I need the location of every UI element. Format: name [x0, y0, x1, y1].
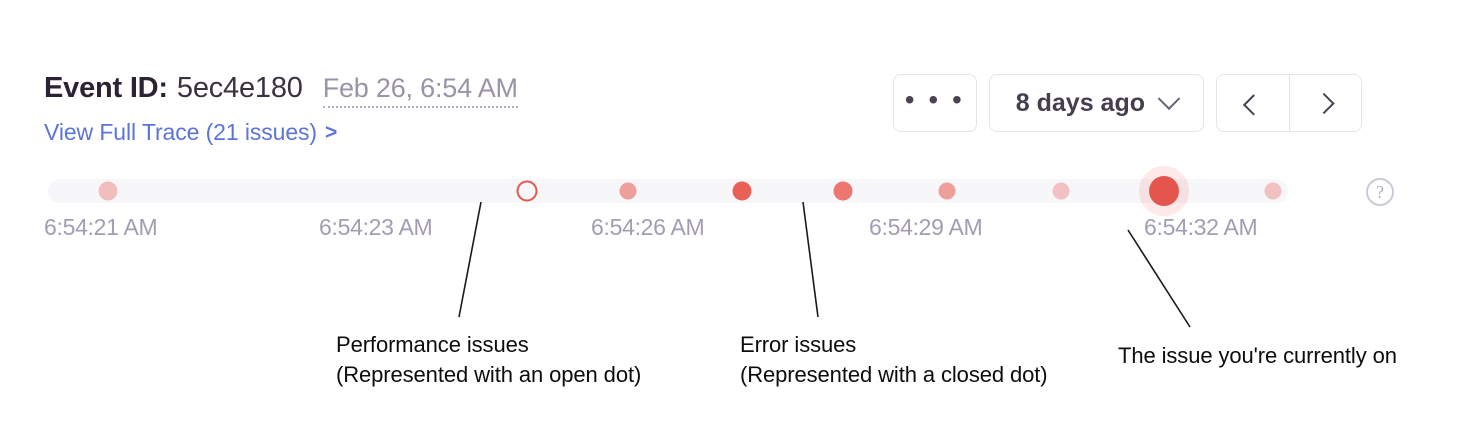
timeline-dot-1[interactable]: [99, 182, 118, 201]
timeline-dot-7[interactable]: [1053, 183, 1070, 200]
annotation-performance-issues-line-1: Performance issues: [336, 330, 641, 360]
time-label-4: 6:54:29 AM: [869, 214, 982, 241]
event-id-value: 5ec4e180: [177, 72, 303, 105]
timeline-dot-3[interactable]: [620, 183, 637, 200]
help-icon[interactable]: ?: [1366, 178, 1394, 206]
time-label-1: 6:54:21 AM: [44, 214, 157, 241]
chevron-left-icon: [1242, 94, 1263, 115]
time-period-label: 8 days ago: [1016, 89, 1145, 118]
header-row: Event ID: 5ec4e180 Feb 26, 6:54 AM View …: [44, 72, 1440, 152]
timeline-time-labels: 6:54:21 AM6:54:23 AM6:54:26 AM6:54:29 AM…: [44, 214, 1436, 242]
view-full-trace-label: View Full Trace (21 issues): [44, 119, 317, 146]
annotation-performance-issues-line-2: (Represented with an open dot): [336, 360, 641, 390]
question-mark-glyph: ?: [1376, 182, 1384, 203]
timeline-track[interactable]: [48, 179, 1288, 203]
chevron-right-icon: >: [325, 121, 337, 145]
timeline-dot-6[interactable]: [939, 183, 956, 200]
time-period-dropdown[interactable]: 8 days ago: [989, 74, 1204, 132]
annotation-error-issues-line-2: (Represented with a closed dot): [740, 360, 1048, 390]
annotation-current-issue: The issue you're currently on: [1118, 341, 1397, 371]
navigation-group: [1216, 74, 1362, 132]
next-event-button[interactable]: [1289, 75, 1361, 131]
chevron-down-icon: [1158, 87, 1181, 110]
event-id-label: Event ID:: [44, 72, 168, 105]
time-label-2: 6:54:23 AM: [319, 214, 432, 241]
timeline-dot-5[interactable]: [834, 182, 853, 201]
annotation-current-issue-line-1: The issue you're currently on: [1118, 341, 1397, 371]
event-id-line: Event ID: 5ec4e180 Feb 26, 6:54 AM: [44, 72, 518, 108]
timeline-dot-8[interactable]: [1149, 176, 1179, 206]
event-date[interactable]: Feb 26, 6:54 AM: [323, 73, 518, 108]
event-trace-timeline-panel: Event ID: 5ec4e180 Feb 26, 6:54 AM View …: [0, 0, 1480, 438]
timeline-dot-4[interactable]: [733, 182, 752, 201]
timeline-dot-9[interactable]: [1265, 183, 1282, 200]
time-label-5: 6:54:32 AM: [1144, 214, 1257, 241]
issue-timeline[interactable]: ?: [44, 176, 1436, 206]
annotation-error-issues: Error issues(Represented with a closed d…: [740, 330, 1048, 391]
previous-event-button[interactable]: [1217, 75, 1289, 131]
chevron-right-icon: [1313, 92, 1334, 113]
timeline-dot-2[interactable]: [517, 181, 538, 202]
header-controls: • • • 8 days ago: [893, 74, 1362, 132]
view-full-trace-link[interactable]: View Full Trace (21 issues) >: [44, 119, 337, 146]
annotation-current-issue-leader: [1128, 230, 1190, 327]
more-options-button[interactable]: • • •: [893, 74, 977, 132]
annotation-performance-issues: Performance issues(Represented with an o…: [336, 330, 641, 391]
annotation-error-issues-line-1: Error issues: [740, 330, 1048, 360]
time-label-3: 6:54:26 AM: [591, 214, 704, 241]
